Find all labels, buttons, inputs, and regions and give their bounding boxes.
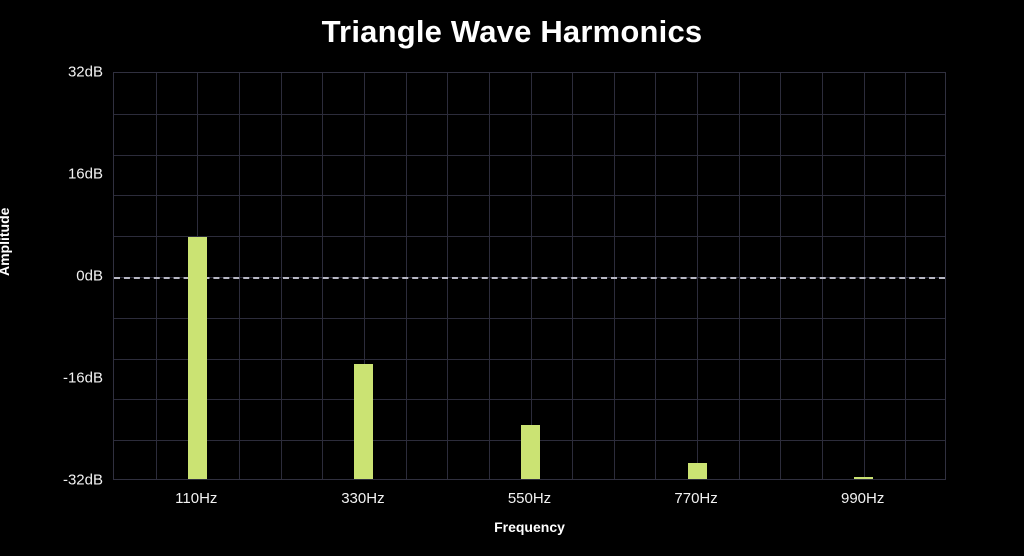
- gridline-vertical: [281, 73, 282, 479]
- x-tick-label: 990Hz: [783, 490, 943, 507]
- gridline-vertical: [864, 73, 865, 479]
- bar-330Hz: [354, 364, 373, 479]
- gridline-vertical: [614, 73, 615, 479]
- gridline-vertical: [447, 73, 448, 479]
- gridline-vertical: [697, 73, 698, 479]
- y-tick-label: 0dB: [3, 268, 103, 285]
- x-axis-label: Frequency: [113, 519, 946, 535]
- bar-770Hz: [688, 463, 707, 479]
- bar-550Hz: [521, 425, 540, 479]
- zero-reference-line: [114, 277, 945, 279]
- y-tick-label: -16dB: [3, 370, 103, 387]
- page-title: Triangle Wave Harmonics: [0, 14, 1024, 50]
- gridline-vertical: [156, 73, 157, 479]
- gridline-vertical: [780, 73, 781, 479]
- y-tick-label: 16dB: [3, 166, 103, 183]
- gridline-vertical: [239, 73, 240, 479]
- x-axis-ticks: 110Hz330Hz550Hz770Hz990Hz: [113, 490, 946, 512]
- x-tick-label: 550Hz: [450, 490, 610, 507]
- gridline-vertical: [322, 73, 323, 479]
- gridline-vertical: [655, 73, 656, 479]
- bar-990Hz: [854, 477, 873, 479]
- x-tick-label: 330Hz: [283, 490, 443, 507]
- y-tick-label: -32dB: [3, 472, 103, 489]
- gridline-vertical: [905, 73, 906, 479]
- gridline-vertical: [531, 73, 532, 479]
- x-tick-label: 110Hz: [116, 490, 276, 507]
- chart-figure: Triangle Wave Harmonics -32dB-16dB0dB16d…: [0, 0, 1024, 556]
- y-axis-label: Amplitude: [0, 208, 12, 276]
- y-axis-ticks: -32dB-16dB0dB16dB32dB: [0, 72, 103, 480]
- gridline-vertical: [489, 73, 490, 479]
- gridline-vertical: [406, 73, 407, 479]
- gridline-vertical: [572, 73, 573, 479]
- bar-110Hz: [188, 237, 207, 479]
- gridline-vertical: [739, 73, 740, 479]
- plot-area: [113, 72, 946, 480]
- y-tick-label: 32dB: [3, 64, 103, 81]
- gridline-vertical: [822, 73, 823, 479]
- x-tick-label: 770Hz: [616, 490, 776, 507]
